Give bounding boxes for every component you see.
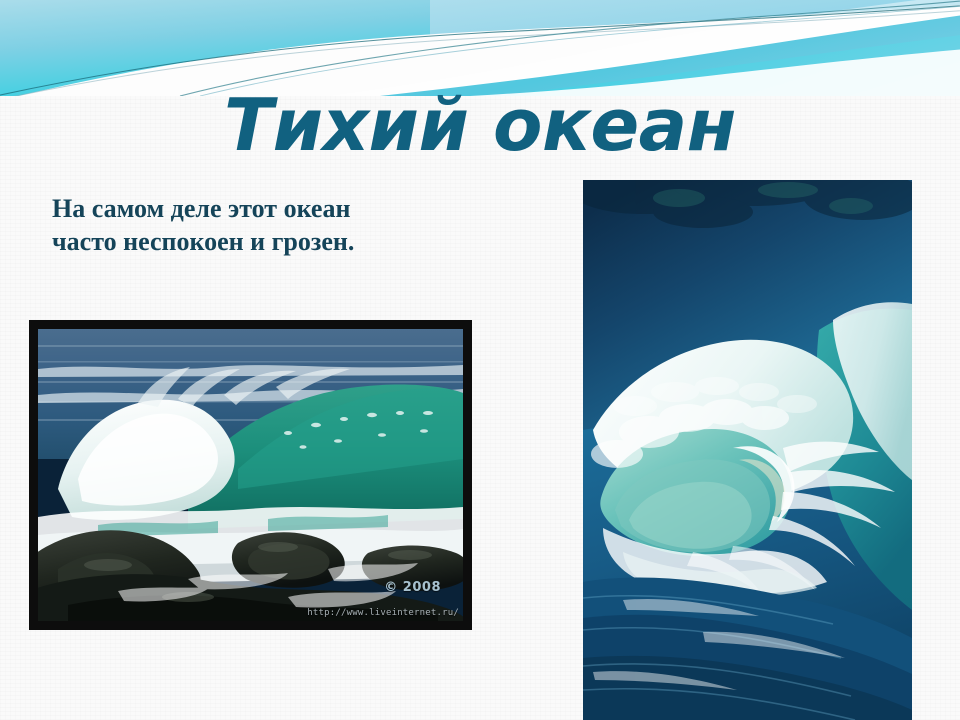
slide-body-text: На самом деле этот океан часто неспокоен… [52, 192, 482, 258]
photo-watermark-copyright: © 2008 [384, 580, 441, 595]
ocean-wave-rocks-photo: © 2008 http://www.liveinternet.ru/ [29, 320, 472, 630]
slide-title: Тихий океан [0, 82, 960, 168]
breaking-wave-photo [583, 180, 912, 720]
body-line-2: часто неспокоен и грозен. [52, 225, 482, 258]
photo-watermark-url: http://www.liveinternet.ru/ [307, 608, 459, 618]
presentation-slide: Тихий океан На самом деле этот океан час… [0, 0, 960, 720]
photo-left-image: © 2008 http://www.liveinternet.ru/ [38, 329, 463, 621]
body-line-1: На самом деле этот океан [52, 192, 482, 225]
